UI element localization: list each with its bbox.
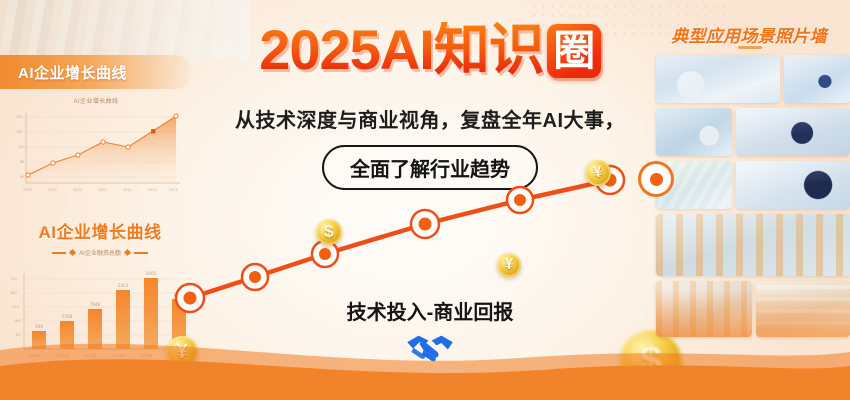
svg-text:2020: 2020 bbox=[73, 188, 82, 192]
legend-line-swatch-2 bbox=[134, 252, 148, 254]
growth-curve-card-header: AI企业增长曲线 bbox=[0, 55, 192, 89]
svg-text:700: 700 bbox=[10, 277, 18, 281]
coin-symbol: $ bbox=[324, 222, 333, 242]
photo-robotic-assembly-cell[interactable] bbox=[656, 281, 752, 337]
growth-area-chart-caption: AI企业增长曲线 bbox=[6, 96, 186, 105]
svg-text:240: 240 bbox=[12, 305, 20, 309]
svg-text:2021: 2021 bbox=[98, 188, 107, 192]
growth-area-chart-svg: 200160 12080 40 20182019 20202021 202220… bbox=[6, 105, 186, 197]
legend-line-swatch bbox=[52, 252, 66, 254]
photo-row bbox=[650, 281, 850, 337]
coin-dollar-1: $ bbox=[316, 219, 342, 245]
photo-doctors-consultation[interactable] bbox=[656, 55, 780, 103]
coin-symbol: ¥ bbox=[505, 256, 514, 274]
photo-automated-warehouse[interactable] bbox=[756, 281, 850, 337]
coin-yen-1: ¥ bbox=[497, 253, 521, 277]
main-title-badge: 圈 bbox=[547, 24, 601, 78]
svg-text:40: 40 bbox=[20, 175, 24, 179]
poster-main-title: 2025AI知识圈 bbox=[190, 22, 670, 78]
svg-text:2018: 2018 bbox=[23, 188, 32, 192]
svg-text:160: 160 bbox=[16, 130, 22, 134]
svg-text:2023: 2023 bbox=[148, 188, 157, 192]
photo-row bbox=[650, 108, 850, 156]
growth-curve-card-title: AI企业增长曲线 bbox=[18, 62, 127, 83]
poster-canvas: AI企业增长曲线 AI企业增长曲线 bbox=[0, 0, 850, 400]
photo-lab-technician-equipment[interactable] bbox=[784, 55, 850, 103]
svg-text:7946: 7946 bbox=[90, 302, 101, 307]
photo-row bbox=[650, 55, 850, 103]
photo-row bbox=[650, 161, 850, 209]
photo-row bbox=[650, 214, 850, 276]
legend-marker-swatch-2 bbox=[124, 249, 131, 256]
photo-businessman-dual-monitor[interactable] bbox=[736, 108, 850, 156]
photo-smart-factory-line[interactable] bbox=[656, 214, 850, 276]
svg-text:120: 120 bbox=[18, 145, 24, 149]
legend-label: AI企业融资总额 bbox=[79, 248, 121, 257]
coin-symbol: ¥ bbox=[592, 163, 604, 182]
svg-text:2019: 2019 bbox=[48, 188, 57, 192]
main-title-text: 2025AI知识 bbox=[259, 18, 544, 81]
photo-engineer-at-laptop[interactable] bbox=[736, 161, 850, 209]
svg-text:3605: 3605 bbox=[146, 271, 157, 276]
photo-medical-device-operator[interactable] bbox=[656, 108, 732, 156]
photo-wall-header: 典型应用场景照片墙 bbox=[654, 22, 844, 47]
photo-wall-header-rule bbox=[738, 46, 762, 49]
svg-text:2022: 2022 bbox=[123, 188, 132, 192]
legend-marker-swatch bbox=[69, 249, 76, 256]
svg-text:480: 480 bbox=[10, 291, 18, 295]
svg-text:200: 200 bbox=[16, 115, 22, 119]
photo-wall-marker-icon bbox=[641, 164, 671, 194]
svg-text:2453: 2453 bbox=[118, 283, 129, 288]
poster-subtitle: 从技术深度与商业视角，复盘全年AI大事， bbox=[190, 104, 670, 133]
photo-wall-grid bbox=[650, 55, 850, 342]
svg-text:80: 80 bbox=[20, 160, 24, 164]
